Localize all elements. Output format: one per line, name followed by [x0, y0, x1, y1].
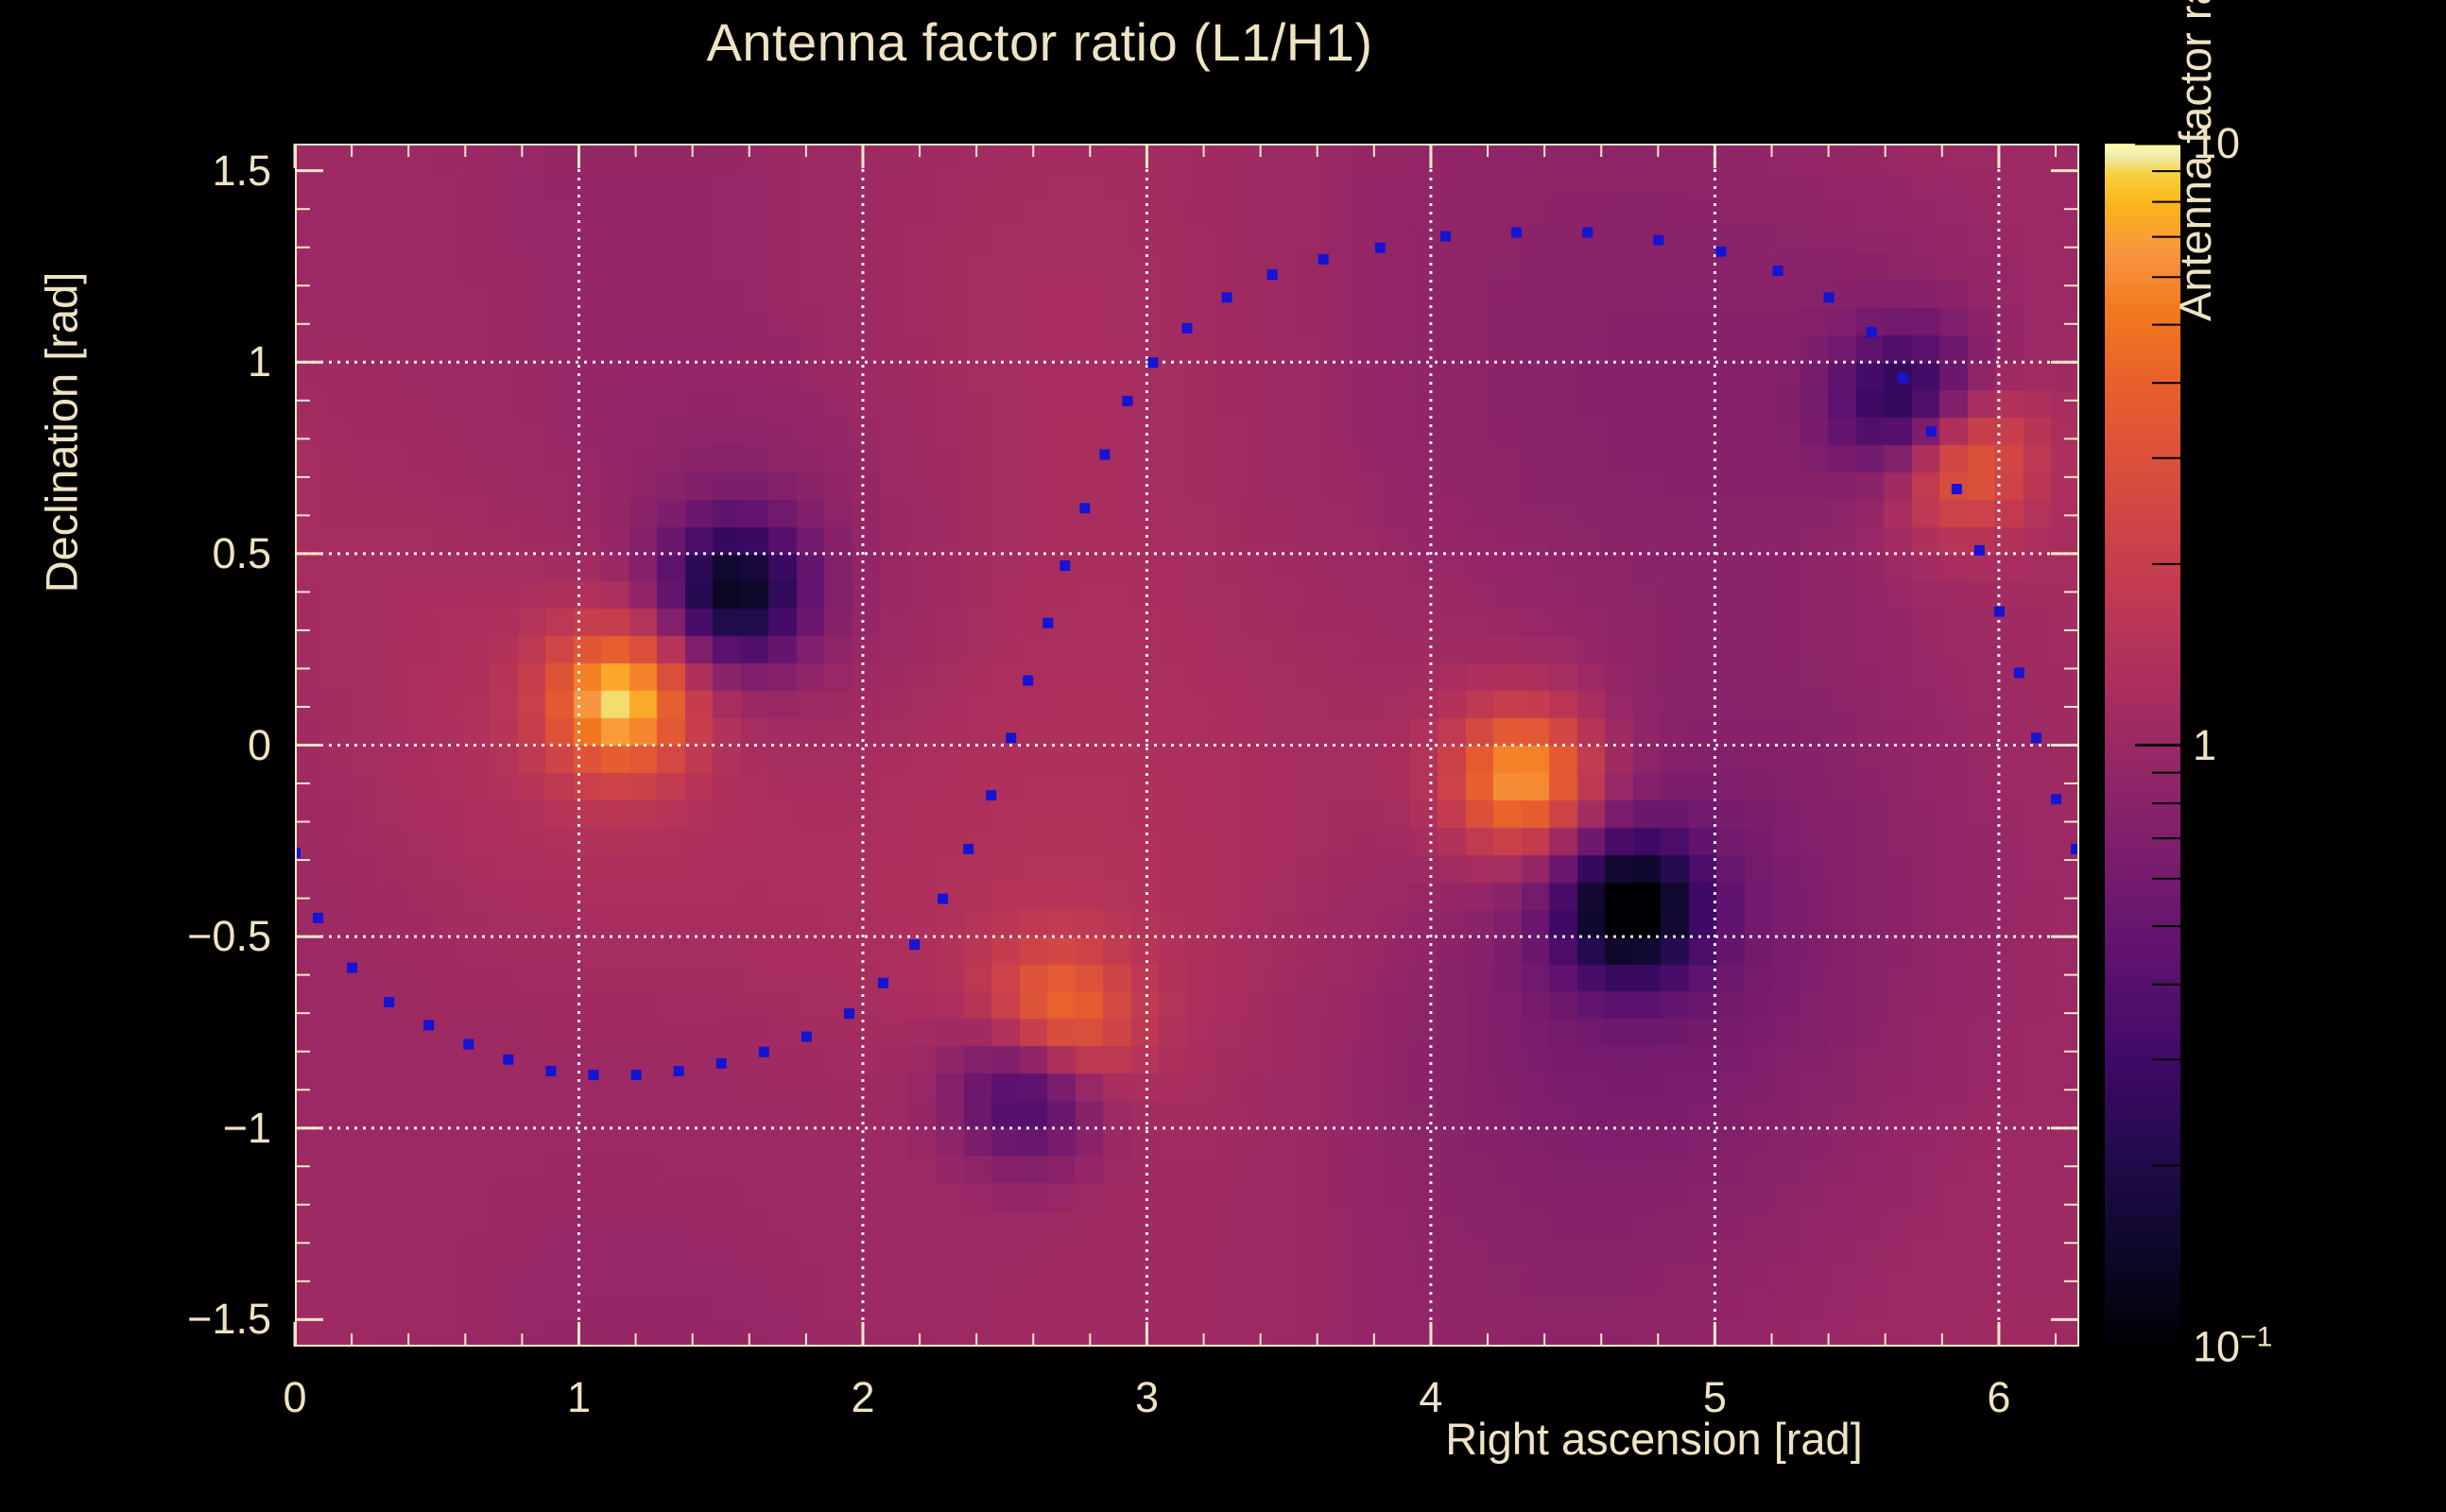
- x-axis-tick-label: 5: [1658, 1373, 1771, 1422]
- x-axis-tick-label: 0: [238, 1373, 352, 1422]
- y-axis-tick-label: −1: [120, 1104, 271, 1153]
- colorbar-tick-label: 1: [2193, 721, 2216, 770]
- colorbar-tick-label: 10−1: [2193, 1322, 2272, 1372]
- chart-title: Antenna factor ratio (L1/H1): [0, 11, 2079, 73]
- x-axis-tick-label: 4: [1374, 1373, 1488, 1422]
- x-axis-tick-label: 1: [522, 1373, 635, 1422]
- y-axis-tick-label: 1.5: [120, 146, 271, 196]
- x-axis-tick-label: 6: [1942, 1373, 2056, 1422]
- colorbar-label: Antenna factor ratio (L1/H1): [2169, 0, 2221, 661]
- y-axis-label: Declination [rad]: [36, 168, 88, 697]
- figure-canvas: Antenna factor ratio (L1/H1) Declination…: [0, 0, 2446, 1512]
- colorbar-tick-mantissa: 10: [2193, 1323, 2240, 1371]
- x-axis-tick-label: 2: [806, 1373, 920, 1422]
- overlay-curve-markers: [295, 144, 2079, 1347]
- colorbar-tick-exponent: −1: [2240, 1322, 2272, 1353]
- colorbar-tick-mantissa: 1: [2193, 721, 2216, 769]
- y-axis-tick-label: −0.5: [120, 912, 271, 961]
- y-axis-tick-label: 0: [120, 721, 271, 770]
- y-axis-tick-label: 0.5: [120, 529, 271, 578]
- y-axis-tick-label: −1.5: [120, 1295, 271, 1344]
- x-axis-tick-label: 3: [1090, 1373, 1203, 1422]
- heatmap-plot-area: [295, 144, 2079, 1347]
- y-axis-tick-label: 1: [120, 337, 271, 387]
